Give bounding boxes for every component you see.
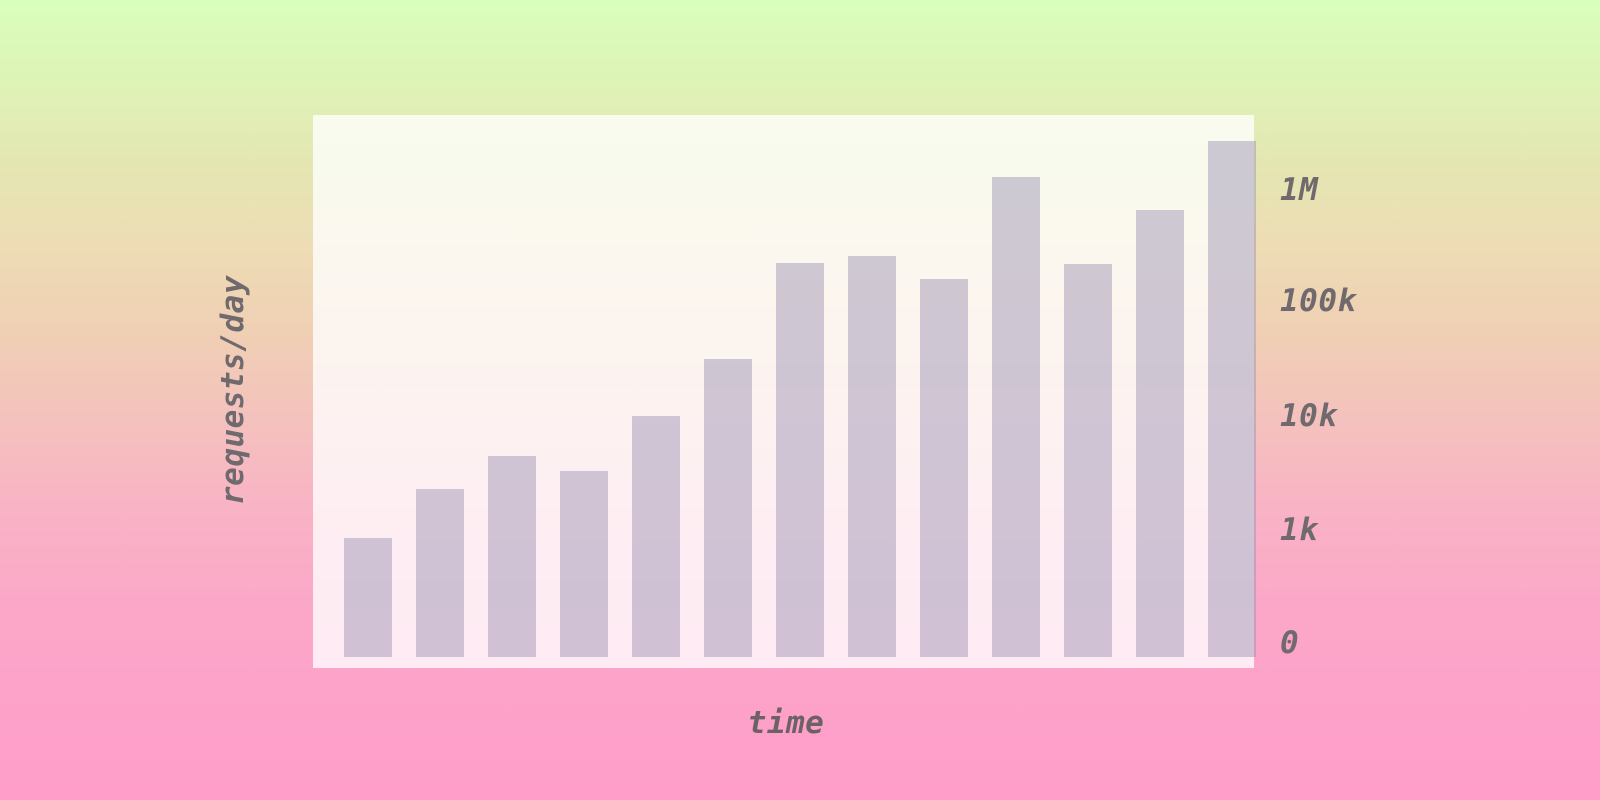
plot-area — [313, 115, 1254, 668]
bar — [920, 279, 968, 657]
bar — [344, 538, 392, 657]
y-axis-tick-label: 10k — [1280, 398, 1338, 434]
bar — [1208, 141, 1256, 657]
bar — [632, 416, 680, 657]
bar — [992, 177, 1040, 657]
y-axis-tick-labels: 1M100k10k1k0 — [1280, 0, 1580, 800]
bar — [488, 456, 536, 657]
x-axis-title: time — [748, 705, 825, 741]
y-axis-tick-label: 100k — [1280, 283, 1357, 319]
chart-canvas: 1M100k10k1k0 requests/day time — [0, 0, 1600, 800]
bar — [1064, 264, 1112, 657]
bar — [560, 471, 608, 657]
bar — [776, 263, 824, 657]
bar — [1136, 210, 1184, 657]
y-axis-tick-label: 0 — [1280, 625, 1299, 661]
bar — [848, 256, 896, 657]
bar — [704, 359, 752, 657]
y-axis-title: requests/day — [215, 275, 251, 505]
y-axis-tick-label: 1k — [1280, 512, 1318, 548]
bar — [416, 489, 464, 657]
y-axis-tick-label: 1M — [1280, 172, 1318, 208]
